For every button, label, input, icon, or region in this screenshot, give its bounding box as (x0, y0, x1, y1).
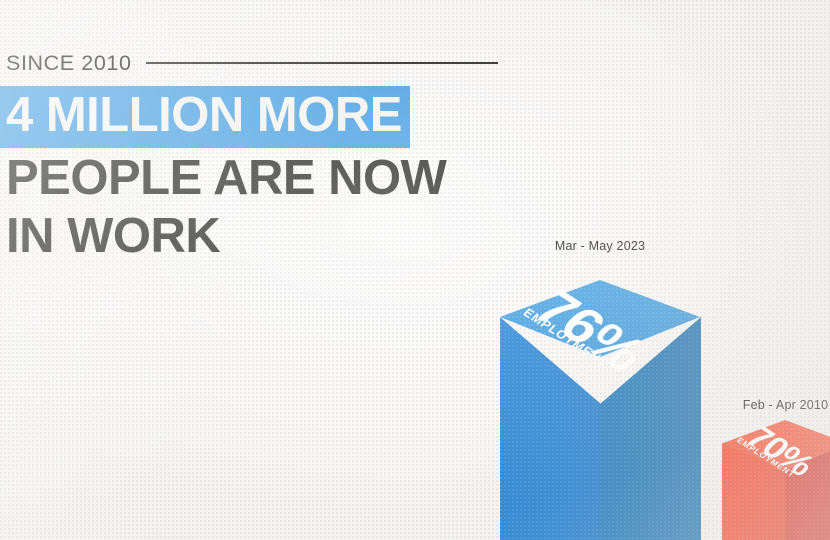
headline-dark-line-1: PEOPLE ARE NOW (0, 152, 520, 206)
bar-label-2023: Mar - May 2023 (530, 239, 670, 253)
bar-label-2010: Feb - Apr 2010 (718, 398, 830, 412)
kicker-rule (146, 62, 498, 64)
headline-block: SINCE 2010 4 MILLION MORE PEOPLE ARE NOW… (0, 46, 520, 264)
headline-dark-line-2: IN WORK (0, 210, 520, 264)
bar-column-2010 (722, 420, 830, 540)
infographic-canvas: SINCE 2010 4 MILLION MORE PEOPLE ARE NOW… (0, 0, 830, 540)
bar-column-2023 (500, 280, 700, 540)
kicker-text: SINCE 2010 (6, 51, 132, 76)
kicker-row: SINCE 2010 (0, 46, 520, 80)
headline-highlight-line: 4 MILLION MORE (0, 86, 410, 148)
